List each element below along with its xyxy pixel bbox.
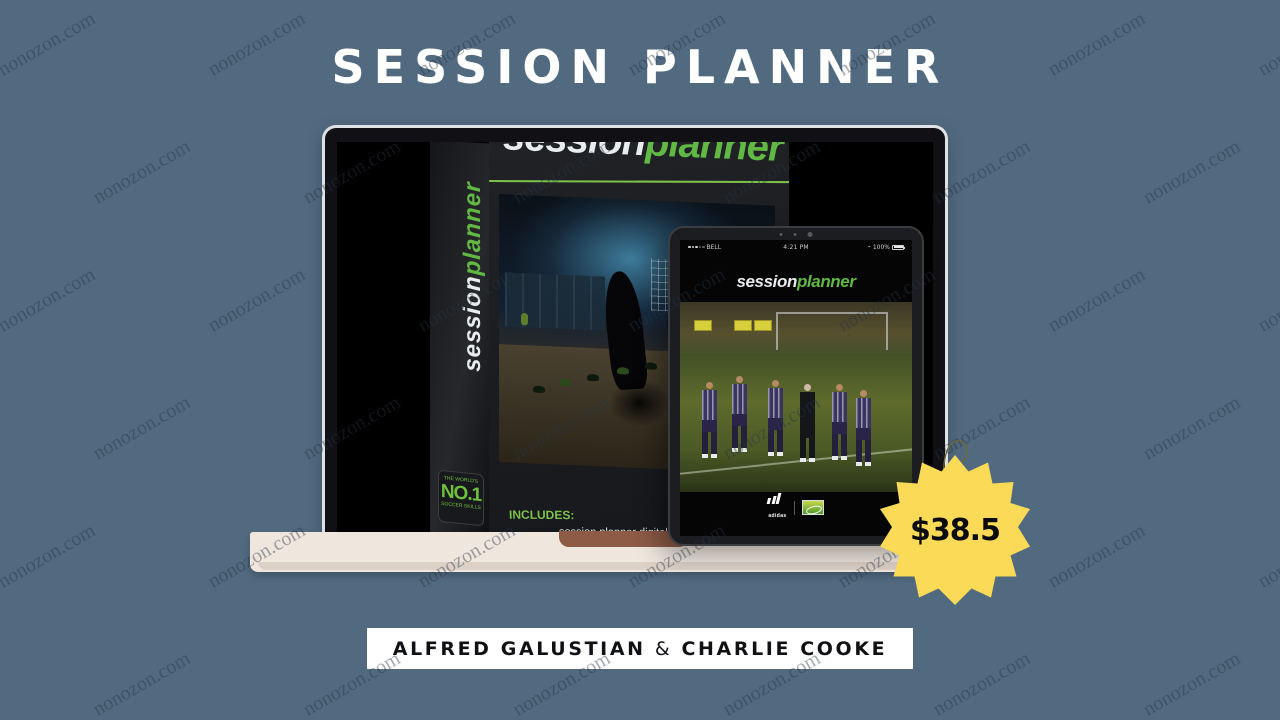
status-bar-right: ⌁ 100% [809,244,904,251]
photo-player [856,390,871,466]
photo-goal [776,312,888,350]
tablet-speaker-grille [780,232,813,237]
box-includes-label: INCLUDES: [509,508,575,522]
photo-player [832,384,847,460]
tablet-screen: BELL 4:21 PM ⌁ 100% sessionplanner [680,240,912,536]
tablet-app-logo: sessionplanner [680,272,912,292]
spine-logo-session: session [459,275,486,373]
author-second: CHARLIE COOKE [682,638,888,660]
battery-full-icon [892,245,904,250]
photo-player [702,382,717,458]
photo-advert-board [694,320,712,331]
battery-percent: 100% [873,244,890,251]
watermark-text: nonozon.com [1254,263,1280,337]
author-names: ALFRED GALUSTIAN & CHARLIE COOKE [367,628,913,669]
watermark-text: nonozon.com [89,391,194,465]
box-logo-session: session [503,142,645,164]
adidas-wordmark: adidas [768,513,786,519]
coerver-icon [802,500,824,515]
artwork-cone [645,362,657,370]
tablet-logo-planner: planner [797,272,856,291]
logo-divider [794,501,795,515]
tablet-footer-logos: adidas [680,493,912,522]
carrier-label: BELL [707,244,722,251]
tablet-photo [680,302,912,492]
product-box-spine: sessionplanner THE WORLD'S NO.1 SOCCER S… [430,142,492,540]
bluetooth-icon: ⌁ [868,244,871,250]
adidas-icon: adidas [768,493,786,522]
artwork-fence [505,272,605,330]
photo-player [732,376,747,452]
artwork-cone [533,386,545,394]
status-bar: BELL 4:21 PM ⌁ 100% [680,240,912,254]
spine-logo-planner: planner [459,181,486,276]
tablet-logo-session: session [736,272,797,291]
photo-advert-board [734,320,752,331]
watermark-text: nonozon.com [1139,135,1244,209]
box-logo-planner: planner [645,142,782,170]
artwork-cone [559,379,571,387]
watermark-text: nonozon.com [1044,519,1149,593]
watermark-text: nonozon.com [1254,519,1280,593]
laptop-base-shadow [258,562,942,570]
artwork-cone [617,367,629,375]
wifi-icon [723,245,729,250]
watermark-text: nonozon.com [89,135,194,209]
author-first: ALFRED GALUSTIAN [393,638,646,660]
author-separator: & [655,638,672,660]
photo-advert-board [754,320,772,331]
watermark-text: nonozon.com [1044,263,1149,337]
status-time: 4:21 PM [783,244,809,251]
artwork-cone [587,374,599,382]
signal-dots-icon [688,246,705,249]
status-bar-left: BELL [688,244,783,251]
worlds-no1-badge: THE WORLD'S NO.1 SOCCER SKILLS [438,470,484,527]
photo-coach [800,384,815,462]
product-box-logo: sessionplanner [503,142,782,171]
price-value: $38.5 [880,455,1030,605]
watermark-text: nonozon.com [1139,391,1244,465]
photo-player [768,380,783,456]
box-accent-line [489,180,789,183]
watermark-text: nonozon.com [0,263,100,337]
price-badge[interactable]: $38.5 [880,455,1030,605]
artwork-figure [521,313,528,325]
author-banner: ALFRED GALUSTIAN & CHARLIE COOKE [0,628,1280,669]
product-box-spine-logo: sessionplanner [459,142,487,412]
page-title: SESSION PLANNER [0,42,1280,92]
watermark-text: nonozon.com [0,519,100,593]
